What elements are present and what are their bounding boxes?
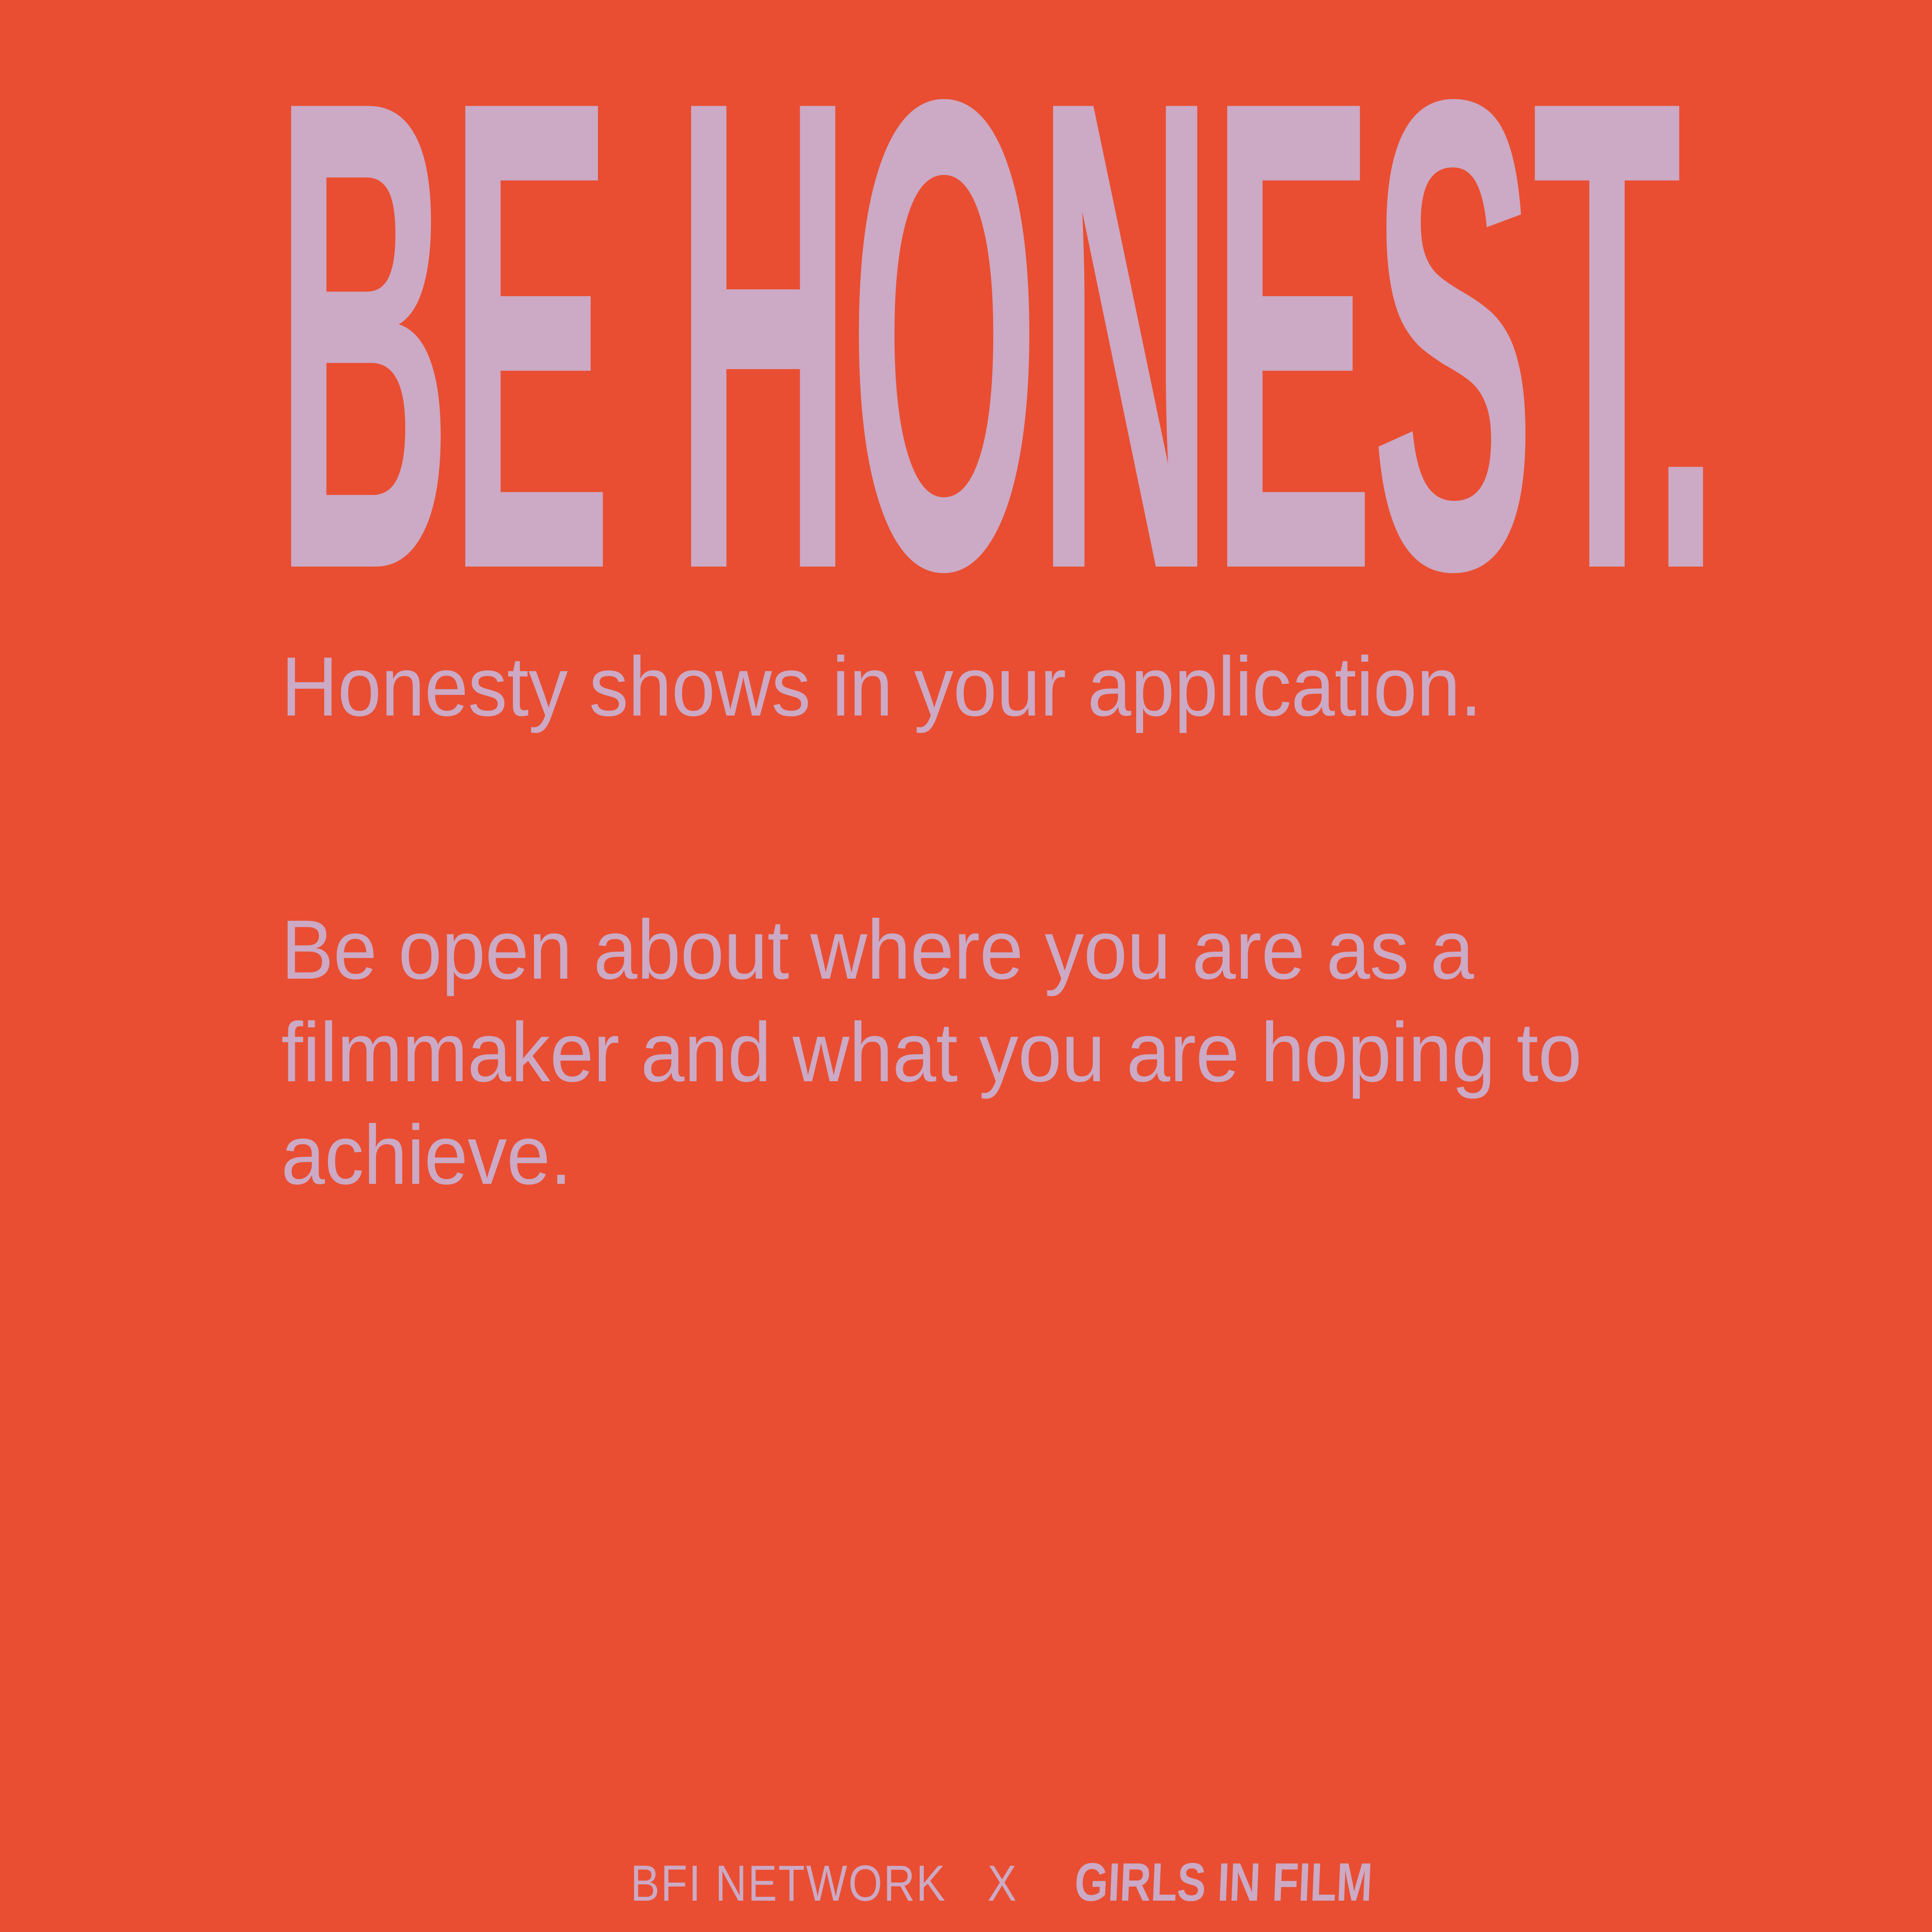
paragraph-spacer	[281, 738, 1741, 898]
footer-girls-in-film-logo: GIRLS IN FILM	[1074, 1851, 1374, 1913]
footer-bfi-network-logo: BFI NETWORK	[631, 1854, 946, 1913]
headline-text: BE HONEST.	[275, 0, 1717, 709]
poster-canvas: BE HONEST. Honesty shows in your applica…	[0, 0, 1932, 1932]
body-copy-container: Honesty shows in your application. Be op…	[281, 635, 1741, 1206]
headline-svg: BE HONEST.	[275, 17, 1717, 575]
headline-container: BE HONEST.	[275, 17, 1717, 575]
body-paragraph-2: Be open about where you are as a filmmak…	[281, 898, 1646, 1206]
footer-bar: BFI NETWORK X GIRLS IN FILM	[0, 1851, 1932, 1913]
body-paragraph-1: Honesty shows in your application.	[281, 635, 1646, 738]
footer-lockup: BFI NETWORK X GIRLS IN FILM	[605, 1851, 1410, 1913]
footer-collab-separator: X	[987, 1854, 1016, 1913]
